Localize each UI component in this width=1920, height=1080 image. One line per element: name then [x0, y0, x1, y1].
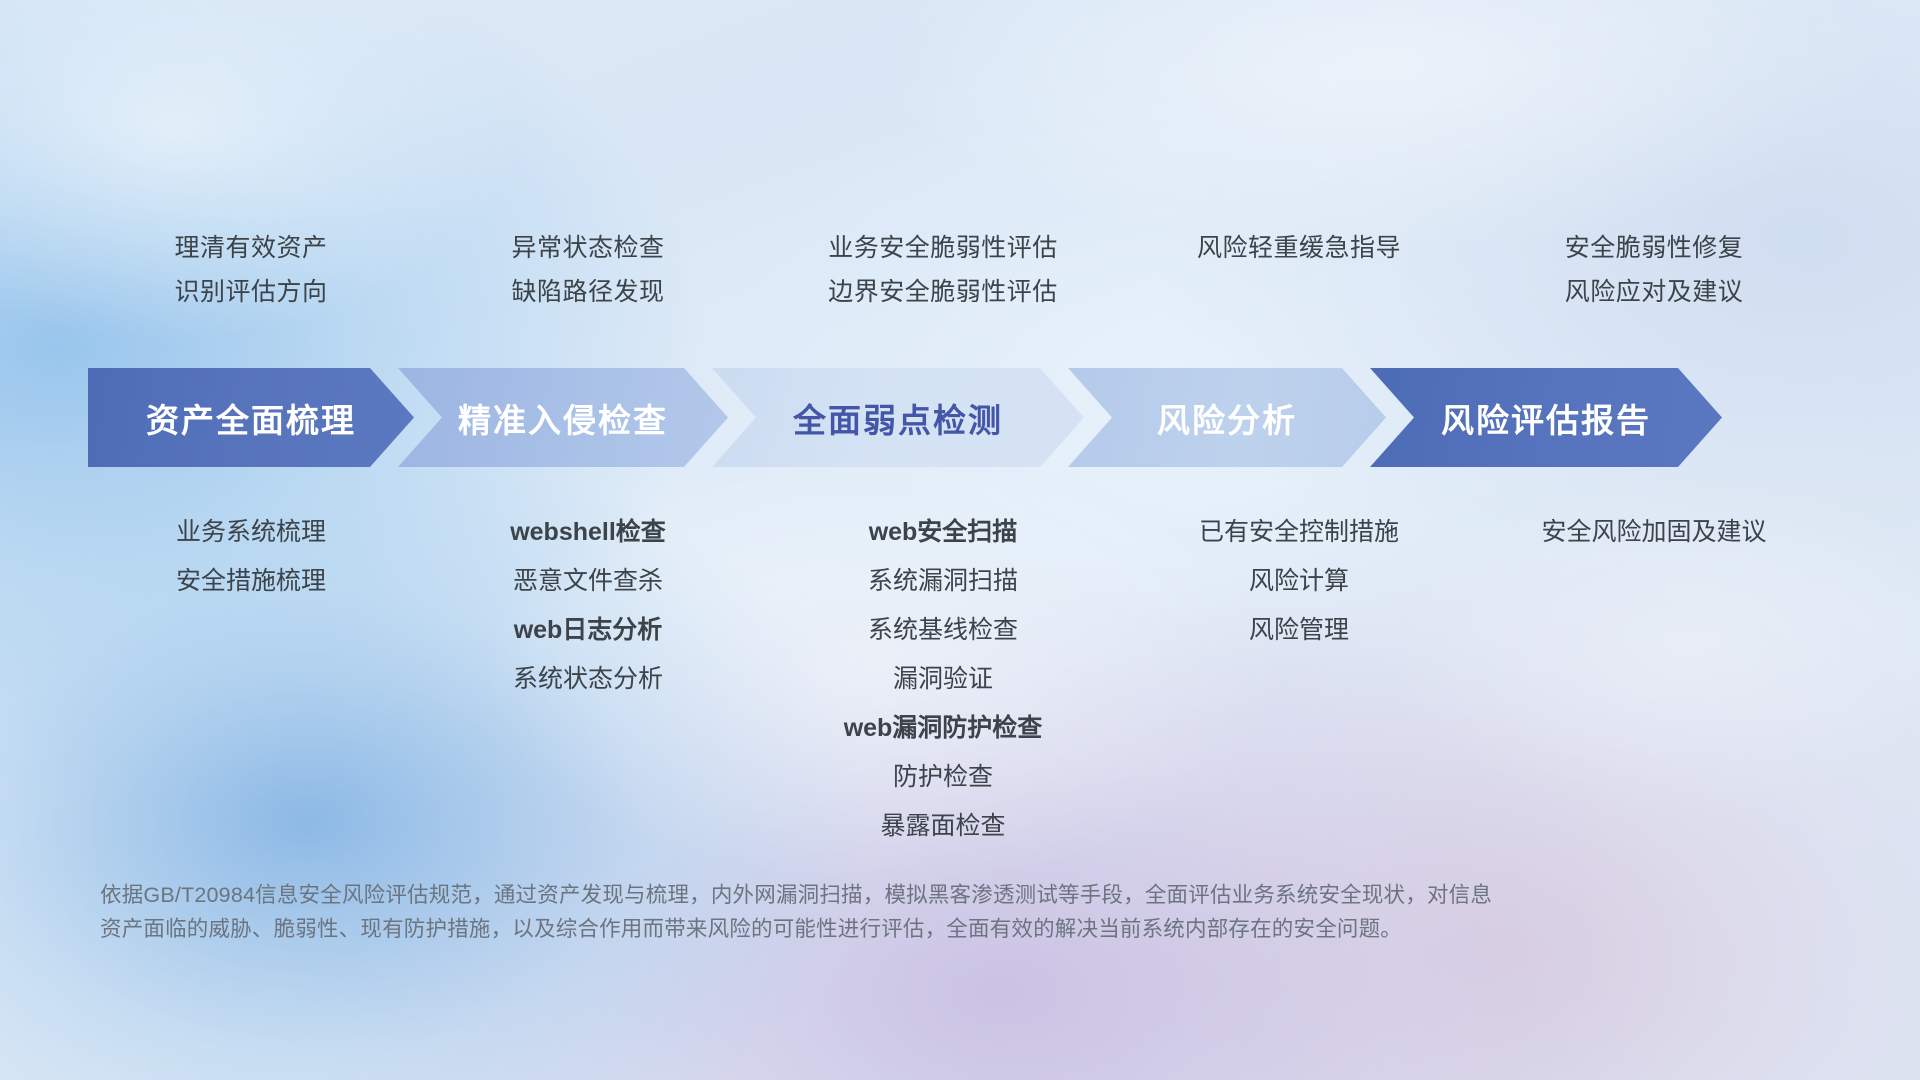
top-captions-intrusion-check: 异常状态检查 缺陷路径发现	[414, 226, 762, 314]
footer-line-2: 资产面临的威胁、脆弱性、现有防护措施，以及综合作用而带来风险的可能性进行评估，全…	[100, 912, 1740, 946]
stage-chevron-intrusion-check[interactable]: 精准入侵检查	[398, 368, 728, 467]
slide-canvas: 理清有效资产 识别评估方向 异常状态检查 缺陷路径发现 业务安全脆弱性评估 边界…	[0, 0, 1920, 1080]
bottom-captions-weakness-detection: web安全扫描 系统漏洞扫描 系统基线检查 漏洞验证 web漏洞防护检查 防护检…	[762, 508, 1124, 851]
footer-line-1: 依据GB/T20984信息安全风险评估规范，通过资产发现与梳理，内外网漏洞扫描，…	[100, 878, 1740, 912]
top-captions-assessment-report: 安全脆弱性修复 风险应对及建议	[1474, 226, 1834, 314]
top-captions-weakness-detection: 业务安全脆弱性评估 边界安全脆弱性评估	[762, 226, 1124, 314]
bottom-caption-item: web安全扫描	[762, 508, 1124, 557]
bottom-caption-item: 恶意文件查杀	[414, 557, 762, 606]
bottom-caption-item: 系统基线检查	[762, 606, 1124, 655]
top-caption-line: 异常状态检查	[414, 226, 762, 270]
process-chevron-band: 资产全面梳理 精准入侵检查 全面弱点检测 风险分析 风险评估报告	[88, 368, 1852, 467]
top-captions-asset-inventory: 理清有效资产 识别评估方向	[88, 226, 414, 314]
bottom-caption-item: 安全措施梳理	[88, 557, 414, 606]
bottom-captions-risk-analysis: 已有安全控制措施 风险计算 风险管理	[1124, 508, 1474, 655]
bottom-caption-item: webshell检查	[414, 508, 762, 557]
stage-title: 风险分析	[1157, 394, 1297, 442]
top-caption-line: 风险应对及建议	[1474, 270, 1834, 314]
bottom-captions-asset-inventory: 业务系统梳理 安全措施梳理	[88, 508, 414, 606]
top-captions-risk-analysis: 风险轻重缓急指导	[1124, 226, 1474, 314]
bottom-caption-item: web日志分析	[414, 606, 762, 655]
stage-title: 精准入侵检查	[458, 394, 668, 442]
bottom-caption-item: 已有安全控制措施	[1124, 508, 1474, 557]
stage-chevron-asset-inventory[interactable]: 资产全面梳理	[88, 368, 414, 467]
top-caption-line: 业务安全脆弱性评估	[762, 226, 1124, 270]
bottom-caption-item: 漏洞验证	[762, 655, 1124, 704]
stage-title: 风险评估报告	[1441, 394, 1651, 442]
top-caption-line: 边界安全脆弱性评估	[762, 270, 1124, 314]
top-caption-line: 理清有效资产	[88, 226, 414, 270]
bottom-caption-item: 风险管理	[1124, 606, 1474, 655]
footer-description: 依据GB/T20984信息安全风险评估规范，通过资产发现与梳理，内外网漏洞扫描，…	[100, 878, 1740, 946]
top-captions-row: 理清有效资产 识别评估方向 异常状态检查 缺陷路径发现 业务安全脆弱性评估 边界…	[88, 226, 1858, 314]
stage-title: 资产全面梳理	[146, 394, 356, 442]
bottom-captions-row: 业务系统梳理 安全措施梳理 webshell检查 恶意文件查杀 web日志分析 …	[88, 508, 1858, 851]
stage-chevron-assessment-report[interactable]: 风险评估报告	[1370, 368, 1722, 467]
bottom-caption-item: 风险计算	[1124, 557, 1474, 606]
bottom-caption-item: web漏洞防护检查	[762, 704, 1124, 753]
stage-chevron-weakness-detection[interactable]: 全面弱点检测	[712, 368, 1084, 467]
bottom-caption-item: 暴露面检查	[762, 802, 1124, 851]
top-caption-line: 缺陷路径发现	[414, 270, 762, 314]
bottom-caption-item: 业务系统梳理	[88, 508, 414, 557]
bottom-caption-item: 安全风险加固及建议	[1474, 508, 1834, 557]
top-caption-line: 识别评估方向	[88, 270, 414, 314]
bottom-caption-item: 系统状态分析	[414, 655, 762, 704]
bottom-captions-intrusion-check: webshell检查 恶意文件查杀 web日志分析 系统状态分析	[414, 508, 762, 704]
stage-chevron-risk-analysis[interactable]: 风险分析	[1068, 368, 1386, 467]
top-caption-line: 安全脆弱性修复	[1474, 226, 1834, 270]
bottom-caption-item: 系统漏洞扫描	[762, 557, 1124, 606]
bottom-caption-item: 防护检查	[762, 753, 1124, 802]
bottom-captions-assessment-report: 安全风险加固及建议	[1474, 508, 1834, 557]
top-caption-line: 风险轻重缓急指导	[1124, 226, 1474, 270]
stage-title: 全面弱点检测	[793, 394, 1003, 442]
